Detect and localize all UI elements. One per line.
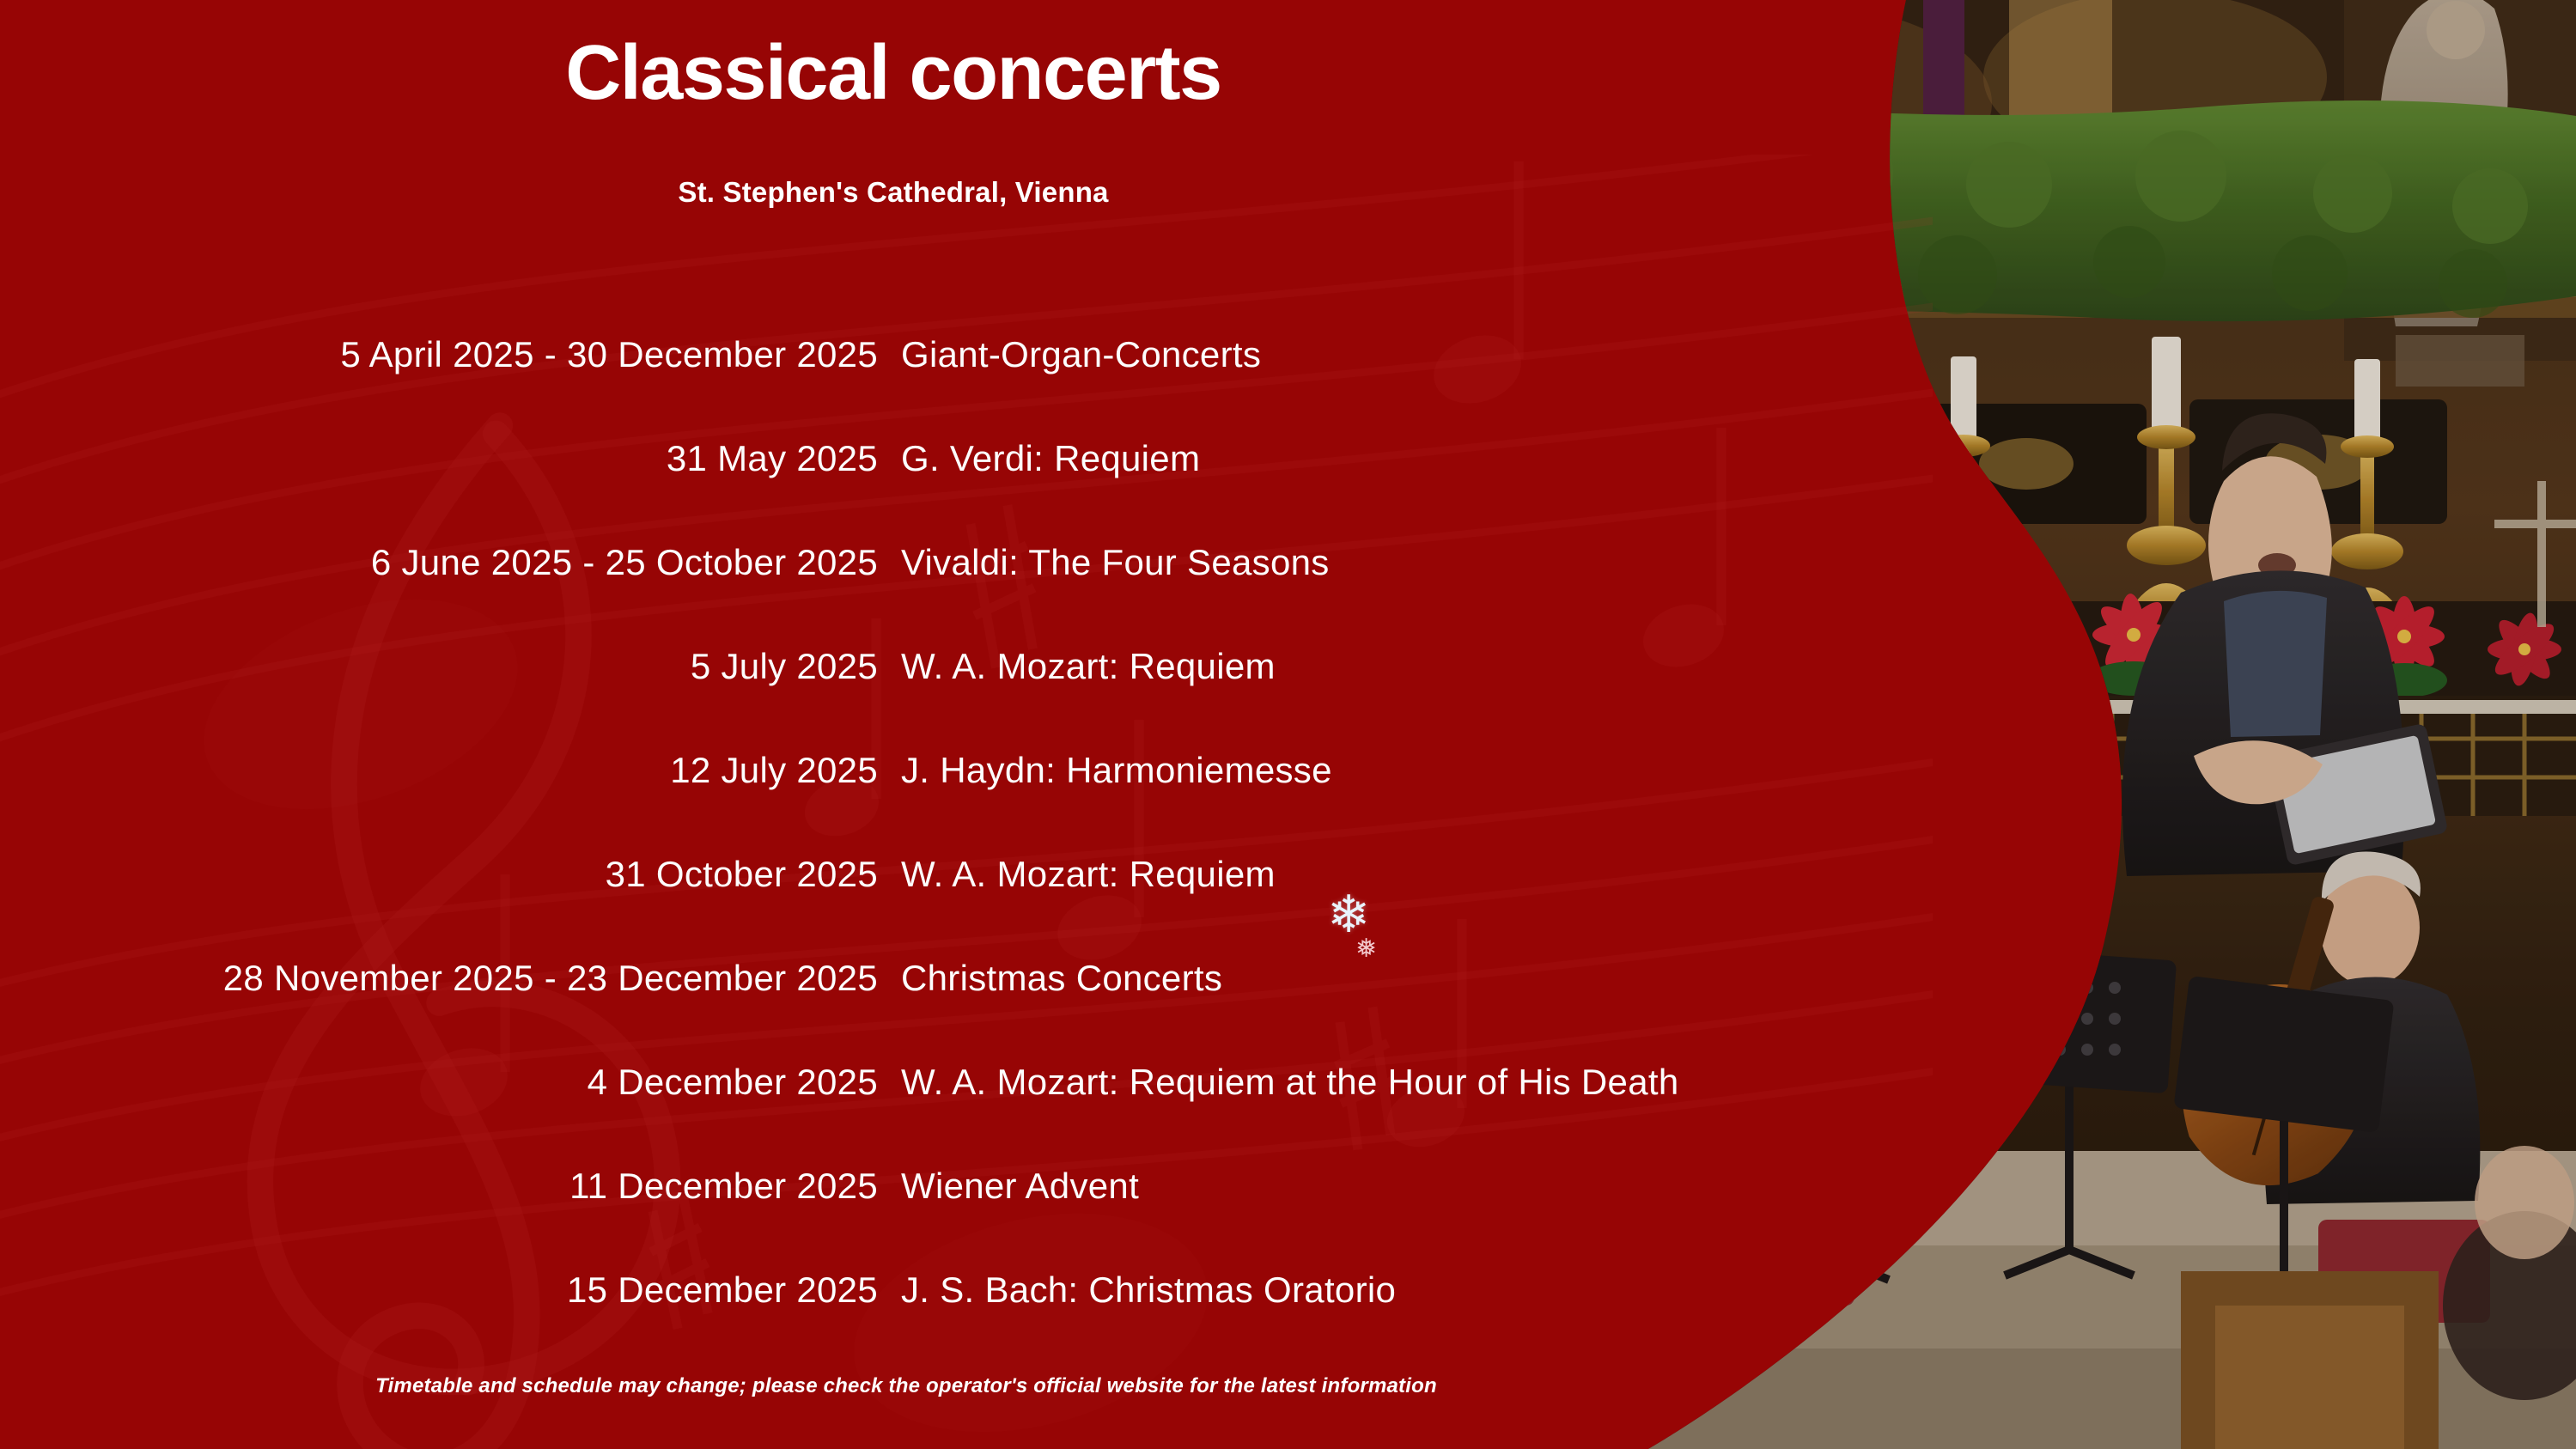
schedule-title: W. A. Mozart: Requiem (878, 646, 1276, 687)
schedule-row: 15 December 2025 J. S. Bach: Christmas O… (0, 1238, 1830, 1342)
schedule-date: 4 December 2025 (0, 1062, 878, 1103)
schedule-date: 15 December 2025 (0, 1269, 878, 1311)
schedule-row: 5 July 2025 W. A. Mozart: Requiem (0, 614, 1830, 718)
disclaimer-note: Timetable and schedule may change; pleas… (0, 1374, 1812, 1398)
schedule-date: 5 April 2025 - 30 December 2025 (0, 334, 878, 375)
schedule-title: G. Verdi: Requiem (878, 438, 1200, 479)
schedule-title: W. A. Mozart: Requiem at the Hour of His… (878, 1062, 1679, 1103)
schedule-title: Christmas Concerts (878, 958, 1222, 999)
schedule-date: 28 November 2025 - 23 December 2025 (0, 958, 878, 999)
schedule-content: Classical concerts St. Stephen's Cathedr… (0, 0, 1830, 1449)
schedule-row: 31 May 2025 G. Verdi: Requiem (0, 406, 1830, 510)
schedule-title: J. S. Bach: Christmas Oratorio (878, 1269, 1396, 1311)
schedule-date: 12 July 2025 (0, 750, 878, 791)
schedule-date: 5 July 2025 (0, 646, 878, 687)
page-title: Classical concerts (0, 33, 1787, 114)
concert-schedule-list: 5 April 2025 - 30 December 2025 Giant-Or… (0, 302, 1830, 1342)
schedule-date: 11 December 2025 (0, 1166, 878, 1207)
schedule-title: W. A. Mozart: Requiem (878, 854, 1276, 895)
page-subtitle: St. Stephen's Cathedral, Vienna (0, 176, 1787, 209)
schedule-row: 28 November 2025 - 23 December 2025 Chri… (0, 926, 1830, 1030)
schedule-row: 5 April 2025 - 30 December 2025 Giant-Or… (0, 302, 1830, 406)
schedule-date: 31 May 2025 (0, 438, 878, 479)
schedule-title: Giant-Organ-Concerts (878, 334, 1261, 375)
schedule-row: 6 June 2025 - 25 October 2025 Vivaldi: T… (0, 510, 1830, 614)
schedule-title: Wiener Advent (878, 1166, 1139, 1207)
schedule-row: 4 December 2025 W. A. Mozart: Requiem at… (0, 1030, 1830, 1134)
schedule-date: 6 June 2025 - 25 October 2025 (0, 542, 878, 583)
schedule-row: 31 October 2025 W. A. Mozart: Requiem (0, 822, 1830, 926)
schedule-date: 31 October 2025 (0, 854, 878, 895)
schedule-title: Vivaldi: The Four Seasons (878, 542, 1330, 583)
schedule-row: 11 December 2025 Wiener Advent (0, 1134, 1830, 1238)
schedule-row: 12 July 2025 J. Haydn: Harmoniemesse (0, 718, 1830, 822)
schedule-title: J. Haydn: Harmoniemesse (878, 750, 1332, 791)
